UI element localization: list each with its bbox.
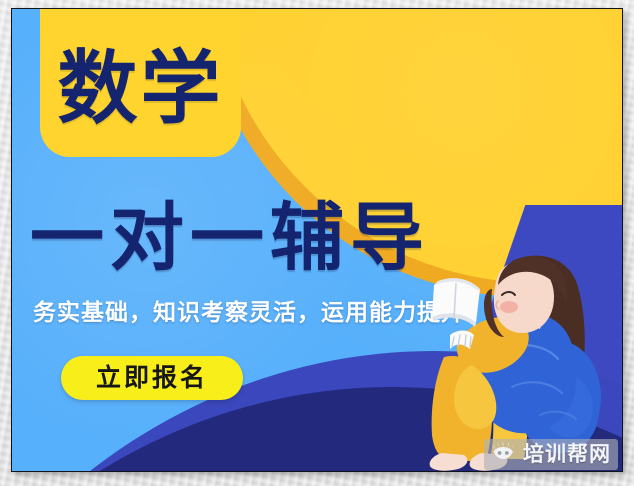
enroll-now-button-label: 立即报名 <box>96 366 208 391</box>
subject-badge: 数学 <box>40 8 241 157</box>
watermark-label: 培训帮网 <box>523 444 611 465</box>
seated-woman-reading-illustration <box>420 245 620 472</box>
sun-face-icon <box>492 442 516 466</box>
subject-badge-label: 数学 <box>58 49 224 157</box>
banner-subtitle: 务实基础，知识考察灵活，运用能力提升 <box>33 302 465 325</box>
image-canvas: 数学 一对一辅导 务实基础，知识考察灵活，运用能力提升 立即报名 <box>0 0 634 486</box>
site-watermark: 培训帮网 <box>484 439 618 470</box>
enroll-now-button[interactable]: 立即报名 <box>61 356 243 400</box>
course-promo-banner: 数学 一对一辅导 务实基础，知识考察灵活，运用能力提升 立即报名 <box>11 8 623 472</box>
page-title: 一对一辅导 <box>30 201 430 275</box>
